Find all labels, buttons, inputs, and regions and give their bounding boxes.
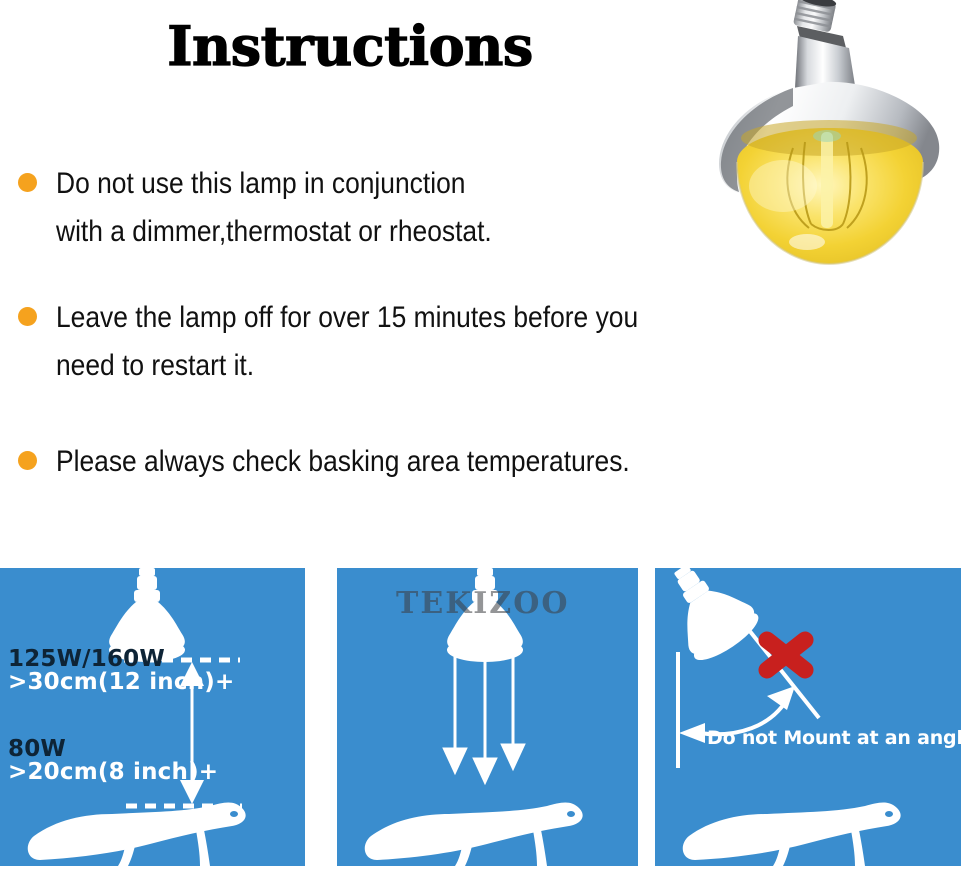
lizard-silhouette [365, 803, 583, 867]
bullet-dot-icon [18, 307, 37, 326]
list-item-text: Do not use this lamp in conjunction with… [56, 160, 839, 256]
wattage-value: 80W [8, 738, 218, 761]
measurement-label-125w: 125W/160W >30cm(12 inch)+ [8, 648, 234, 695]
lizard-silhouette [683, 803, 901, 867]
instructions-list: Do not use this lamp in conjunction with… [16, 160, 946, 516]
list-item: Please always check basking area tempera… [16, 438, 946, 486]
diagram-panel-no-angle-mount [655, 568, 961, 866]
bullet-dot-icon [18, 173, 37, 192]
light-direction-arrows [443, 650, 525, 784]
bullet-dot-icon [18, 451, 37, 470]
bulb-silhouette-tilted [655, 568, 764, 668]
list-item: Do not use this lamp in conjunction with… [16, 160, 946, 256]
no-angle-caption: Do not Mount at an angle [707, 727, 961, 749]
measurement-label-80w: 80W >20cm(8 inch)+ [8, 738, 218, 785]
list-item: Leave the lamp off for over 15 minutes b… [16, 294, 946, 390]
list-item-text: Please always check basking area tempera… [56, 438, 839, 486]
page-title: Instructions [0, 16, 700, 76]
diagram-panel-mounting-height: 125W/160W >30cm(12 inch)+ 80W >20cm(8 in… [0, 568, 305, 866]
x-cross-icon [767, 640, 805, 670]
instructions-page: Instructions [0, 0, 961, 874]
wattage-value: 125W/160W [8, 648, 234, 671]
brand-watermark: TEKIZOO [396, 586, 569, 621]
distance-value: >30cm(12 inch)+ [8, 671, 234, 694]
lizard-silhouette [28, 803, 246, 867]
arc-arrowhead-lower [679, 723, 705, 743]
list-item-text: Leave the lamp off for over 15 minutes b… [56, 294, 839, 390]
distance-value: >20cm(8 inch)+ [8, 761, 218, 784]
